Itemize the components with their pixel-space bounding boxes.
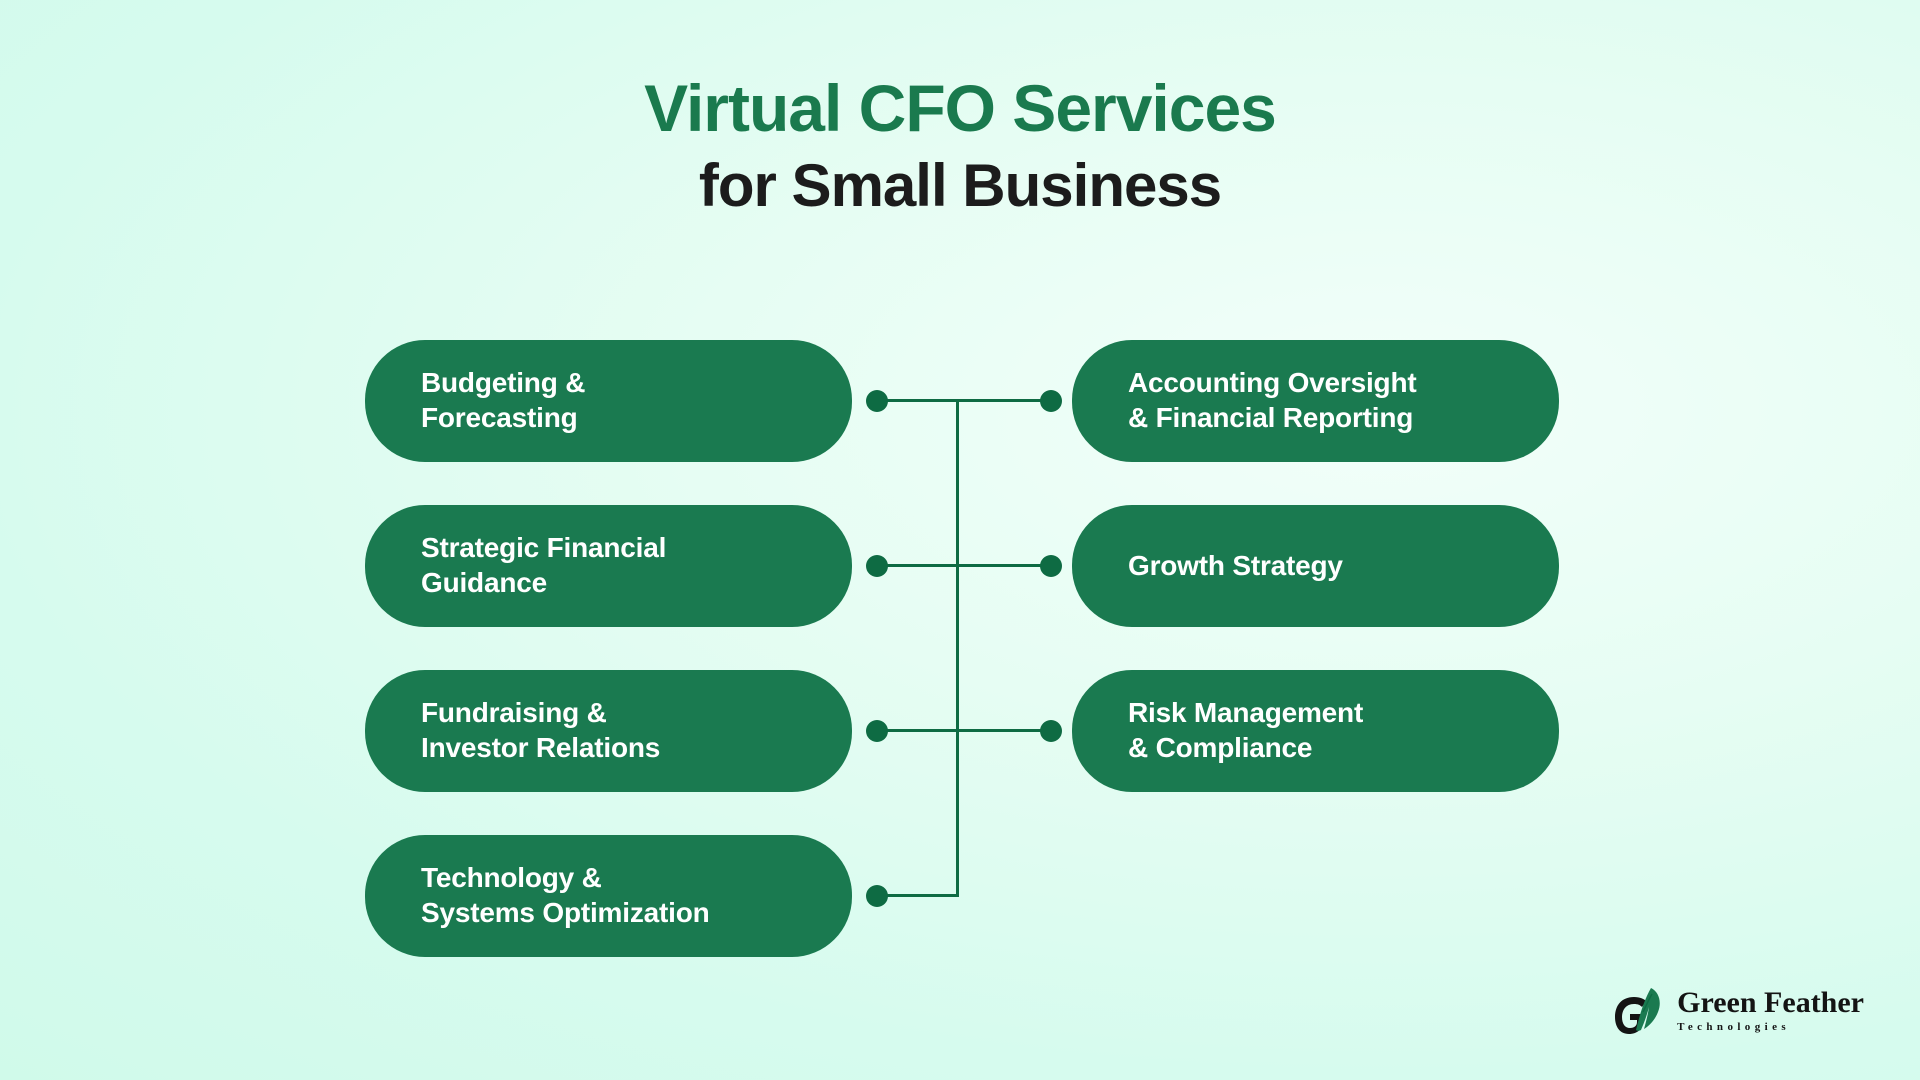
service-card-label: Accounting Oversight & Financial Reporti…: [1128, 366, 1416, 435]
title-line-secondary: for Small Business: [0, 152, 1920, 219]
service-card-strategic-financial-guidance[interactable]: Strategic Financial Guidance: [365, 505, 852, 627]
feather-monogram-icon: [1613, 982, 1665, 1038]
service-card-label: Budgeting & Forecasting: [421, 366, 585, 435]
connector-dot-left-3: [866, 720, 888, 742]
infographic-canvas: Virtual CFO Services for Small Business …: [0, 0, 1920, 1080]
service-card-label: Growth Strategy: [1128, 549, 1343, 584]
connector-spine: [956, 399, 959, 897]
connector-dot-left-2: [866, 555, 888, 577]
service-card-risk-management-compliance[interactable]: Risk Management & Compliance: [1072, 670, 1559, 792]
page-title: Virtual CFO Services for Small Business: [0, 72, 1920, 219]
service-card-label: Strategic Financial Guidance: [421, 531, 666, 600]
connector-line-row-3: [886, 729, 1042, 732]
brand-logo-text: Green Feather Technologies: [1677, 987, 1864, 1034]
services-diagram: Budgeting & Forecasting Strategic Financ…: [0, 330, 1920, 980]
service-card-growth-strategy[interactable]: Growth Strategy: [1072, 505, 1559, 627]
service-card-label: Technology & Systems Optimization: [421, 861, 710, 930]
title-line-primary: Virtual CFO Services: [0, 72, 1920, 146]
service-card-label: Risk Management & Compliance: [1128, 696, 1363, 765]
connector-dot-left-1: [866, 390, 888, 412]
connector-dot-left-4: [866, 885, 888, 907]
connector-line-row-1: [886, 399, 1042, 402]
connector-dot-right-1: [1040, 390, 1062, 412]
connector-line-row-2: [886, 564, 1042, 567]
service-card-budgeting-forecasting[interactable]: Budgeting & Forecasting: [365, 340, 852, 462]
connector-dot-right-3: [1040, 720, 1062, 742]
brand-subtitle: Technologies: [1677, 1021, 1864, 1033]
service-card-label: Fundraising & Investor Relations: [421, 696, 660, 765]
brand-logo: Green Feather Technologies: [1613, 982, 1864, 1038]
service-card-accounting-oversight-financial-reporting[interactable]: Accounting Oversight & Financial Reporti…: [1072, 340, 1559, 462]
service-card-fundraising-investor-relations[interactable]: Fundraising & Investor Relations: [365, 670, 852, 792]
connector-line-row-4: [886, 894, 958, 897]
connector-dot-right-2: [1040, 555, 1062, 577]
brand-name: Green Feather: [1677, 987, 1864, 1019]
service-card-technology-systems-optimization[interactable]: Technology & Systems Optimization: [365, 835, 852, 957]
